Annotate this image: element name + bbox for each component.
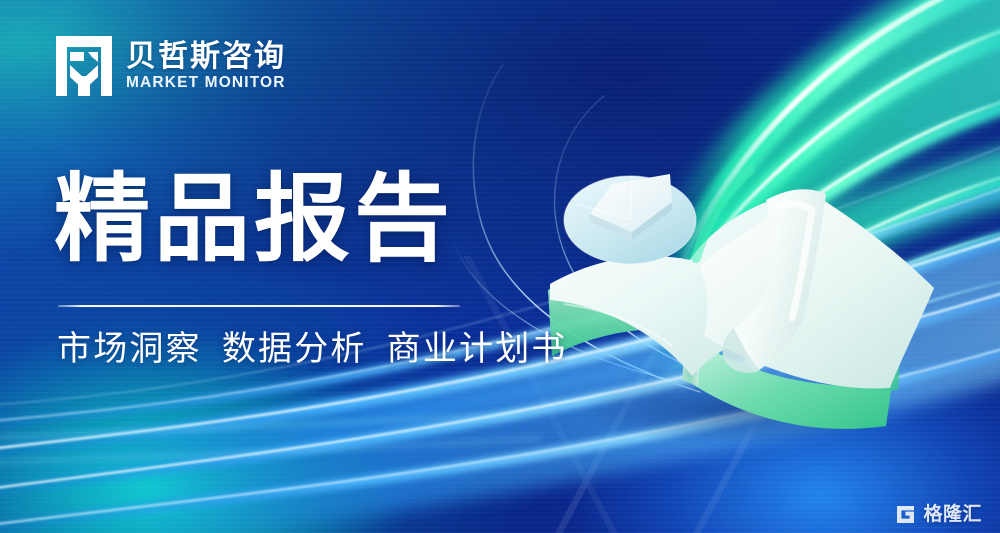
watermark-text: 格隆汇 xyxy=(923,505,982,524)
subtitle-segment-3: 商业计划书 xyxy=(387,330,568,368)
subtitle: 市场洞察数据分析商业计划书 xyxy=(57,328,568,371)
logo-company-cn: 贝哲斯咨询 xyxy=(126,41,286,72)
page-title: 精品报告 xyxy=(54,172,454,268)
title-divider xyxy=(58,305,460,307)
watermark: 格隆汇 xyxy=(895,504,982,525)
logo-company-en: MARKET MONITOR xyxy=(126,74,286,91)
market-monitor-m-icon xyxy=(56,36,112,96)
brand-logo[interactable]: 贝哲斯咨询 MARKET MONITOR xyxy=(56,36,286,96)
open-book-svg xyxy=(520,140,940,440)
subtitle-segment-1: 市场洞察 xyxy=(57,330,202,368)
logo-text-block: 贝哲斯咨询 MARKET MONITOR xyxy=(126,41,286,91)
watermark-mark-svg xyxy=(895,504,916,525)
gelonghui-g-icon xyxy=(895,504,916,525)
logo-mark-svg xyxy=(56,36,112,96)
subtitle-segment-2: 数据分析 xyxy=(222,330,367,368)
report-banner: 贝哲斯咨询 MARKET MONITOR 精品报告 市场洞察数据分析商业计划书 … xyxy=(0,0,1000,533)
open-book-illustration xyxy=(520,140,940,440)
